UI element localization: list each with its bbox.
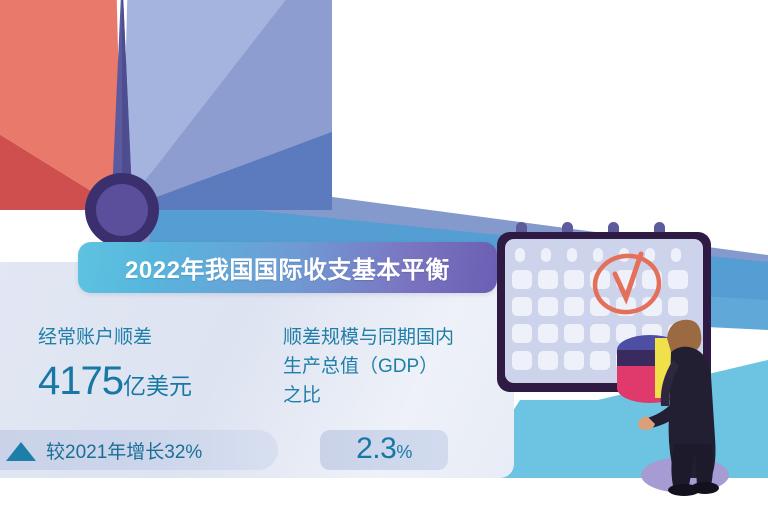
page-title: 2022年我国国际收支基本平衡 [125, 250, 450, 285]
title-banner: 2022年我国国际收支基本平衡 [78, 242, 497, 293]
ratio-badge: 2.3% [320, 430, 448, 470]
triangle-up-icon [6, 442, 36, 461]
ratio-number: 2.3 [356, 432, 396, 465]
stat-block-gdp-ratio: 顺差规模与同期国内 生产总值（GDP） 之比 [283, 323, 503, 410]
stat-label-gdp-ratio-line3: 之比 [283, 381, 503, 410]
stat-unit: 亿美元 [123, 373, 192, 399]
ratio-percent-sign: % [396, 442, 412, 462]
balance-gauge [0, 0, 332, 270]
stat-label-gdp-ratio-line2: 生产总值（GDP） [283, 352, 503, 381]
stat-block-current-account: 经常账户顺差 4175亿美元 [38, 323, 278, 409]
stat-label-current-account: 经常账户顺差 [38, 323, 278, 352]
growth-badge-label: 较2021年增长32% [46, 437, 202, 464]
infographic-root: 2022年我国国际收支基本平衡 经常账户顺差 4175亿美元 顺差规模与同期国内… [0, 0, 768, 515]
stat-label-gdp-ratio-line1: 顺差规模与同期国内 [283, 323, 503, 352]
calendar-scene [495, 218, 768, 508]
ratio-badge-value: 2.3% [356, 434, 412, 467]
growth-badge: 较2021年增长32% [0, 430, 278, 470]
stat-value-current-account: 4175亿美元 [38, 358, 278, 409]
stat-number: 4175 [38, 359, 123, 403]
